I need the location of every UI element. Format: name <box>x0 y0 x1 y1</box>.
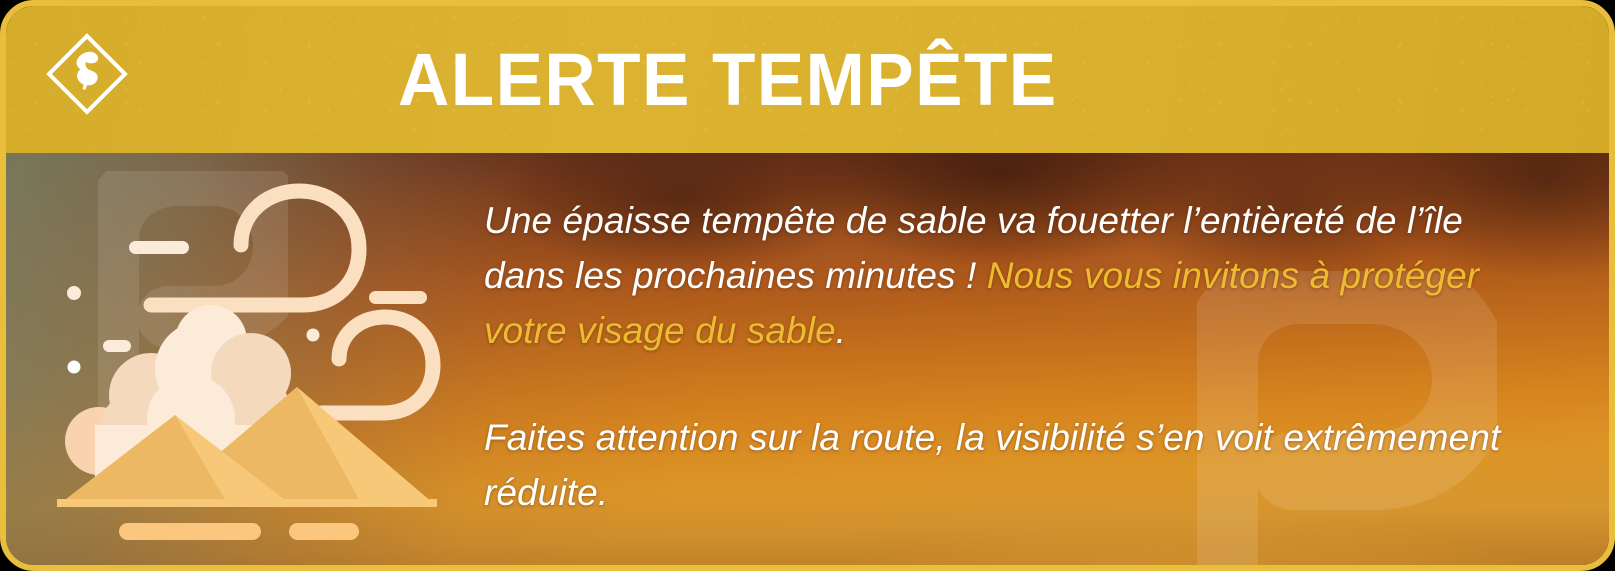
alert-paragraph-2: Faites attention sur la route, la visibi… <box>484 410 1549 520</box>
alert-paragraph-1: Une épaisse tempête de sable va fouetter… <box>484 193 1549 358</box>
alert-message-block: Une épaisse tempête de sable va fouetter… <box>484 193 1549 520</box>
paragraph-1-end: . <box>836 310 846 351</box>
page-title: ALERTE TEMPÊTE <box>398 32 1058 128</box>
alert-header-band: ALERTE TEMPÊTE <box>6 6 1609 153</box>
storm-alert-card: ALERTE TEMPÊTE <box>0 0 1615 571</box>
island-diamond-emblem-icon <box>39 26 135 122</box>
watermark-glyph-left <box>98 171 288 471</box>
sandstorm-dunes-illustration <box>51 173 461 563</box>
alert-body: Une épaisse tempête de sable va fouetter… <box>6 153 1609 571</box>
